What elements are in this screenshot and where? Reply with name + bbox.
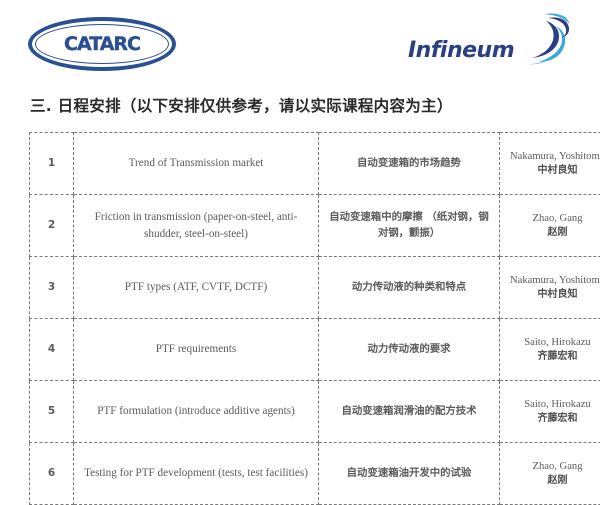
- row-topic-zh: 自动变速箱的市场趋势: [319, 133, 500, 195]
- table-row: 4 PTF requirements 动力传动液的要求 Saito, Hirok…: [30, 319, 600, 381]
- row-speaker: Nakamura, Yoshitomo 中村良知: [500, 257, 600, 319]
- row-speaker: Zhao, Gang 赵刚: [500, 443, 600, 505]
- table-row: 3 PTF types (ATF, CVTF, DCTF) 动力传动液的种类和特…: [30, 257, 600, 319]
- row-number: 6: [30, 443, 74, 505]
- row-speaker-zh: 齐藤宏和: [506, 350, 600, 365]
- row-topic-en: PTF requirements: [74, 319, 319, 381]
- table-row: 6 Testing for PTF development (tests, te…: [30, 443, 600, 505]
- row-topic-en: PTF formulation (introduce additive agen…: [74, 381, 319, 443]
- table-row: 2 Friction in transmission (paper-on-ste…: [30, 195, 600, 257]
- row-speaker-en: Nakamura, Yoshitomo: [510, 151, 600, 162]
- infineum-logo-text: Infineum: [408, 38, 514, 63]
- row-speaker-zh: 中村良知: [506, 164, 600, 179]
- row-number: 4: [30, 319, 74, 381]
- infineum-logo: Infineum: [408, 12, 568, 74]
- infineum-swoosh-icon: [508, 12, 570, 68]
- row-topic-zh: 动力传动液的要求: [319, 319, 500, 381]
- row-topic-zh: 动力传动液的种类和特点: [319, 257, 500, 319]
- row-number: 1: [30, 133, 74, 195]
- row-speaker-zh: 齐藤宏和: [506, 412, 600, 427]
- row-speaker: Nakamura, Yoshitomo 中村良知: [500, 133, 600, 195]
- row-speaker: Saito, Hirokazu 齐藤宏和: [500, 381, 600, 443]
- schedule-table: 1 Trend of Transmission market 自动变速箱的市场趋…: [29, 132, 600, 505]
- row-topic-zh: 自动变速箱润滑油的配方技术: [319, 381, 500, 443]
- table-row: 1 Trend of Transmission market 自动变速箱的市场趋…: [30, 133, 600, 195]
- row-number: 3: [30, 257, 74, 319]
- row-speaker-en: Zhao, Gang: [532, 213, 582, 224]
- schedule-table-body: 1 Trend of Transmission market 自动变速箱的市场趋…: [30, 133, 600, 505]
- row-speaker: Zhao, Gang 赵刚: [500, 195, 600, 257]
- row-speaker-en: Saito, Hirokazu: [524, 399, 591, 410]
- row-topic-en: PTF types (ATF, CVTF, DCTF): [74, 257, 319, 319]
- row-speaker-zh: 中村良知: [506, 288, 600, 303]
- document-header: CATARC Infineum: [0, 0, 600, 88]
- page-title: 三. 日程安排（以下安排仅供参考，请以实际课程内容为主）: [30, 94, 600, 116]
- row-number: 5: [30, 381, 74, 443]
- row-speaker: Saito, Hirokazu 齐藤宏和: [500, 319, 600, 381]
- row-topic-en: Trend of Transmission market: [74, 133, 319, 195]
- schedule-table-container: 1 Trend of Transmission market 自动变速箱的市场趋…: [29, 132, 563, 505]
- row-topic-en: Testing for PTF development (tests, test…: [74, 443, 319, 505]
- catarc-logo-text: CATARC: [28, 33, 176, 55]
- catarc-logo: CATARC: [28, 17, 176, 71]
- row-speaker-en: Zhao, Gang: [532, 461, 582, 472]
- row-topic-zh: 自动变速箱油开发中的试验: [319, 443, 500, 505]
- row-speaker-zh: 赵刚: [506, 226, 600, 241]
- row-speaker-en: Saito, Hirokazu: [524, 337, 591, 348]
- table-row: 5 PTF formulation (introduce additive ag…: [30, 381, 600, 443]
- row-topic-en: Friction in transmission (paper-on-steel…: [74, 195, 319, 257]
- row-speaker-en: Nakamura, Yoshitomo: [510, 275, 600, 286]
- row-speaker-zh: 赵刚: [506, 474, 600, 489]
- row-number: 2: [30, 195, 74, 257]
- row-topic-zh: 自动变速箱中的摩擦 （纸对钢，钢对钢，颤振）: [319, 195, 500, 257]
